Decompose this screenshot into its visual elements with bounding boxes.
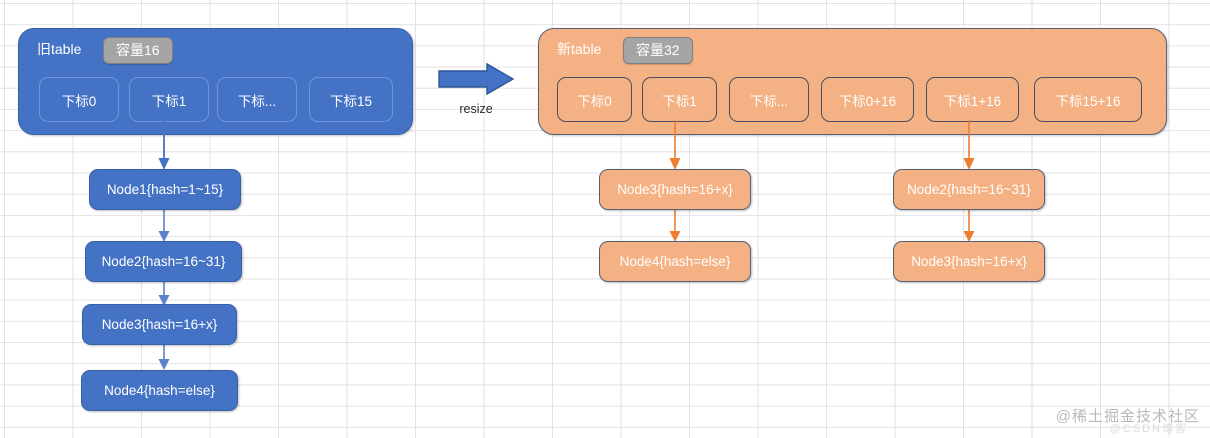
new-right-chain-node-2[interactable]: Node3{hash=16+x} (893, 241, 1045, 282)
connector-new-slot1-to-node3 (663, 120, 687, 172)
new-table-slot-row: 下标0 下标1 下标... 下标0+16 下标1+16 下标15+16 (539, 77, 1166, 125)
old-chain-node-4[interactable]: Node4{hash=else} (81, 370, 238, 411)
old-chain-node-1[interactable]: Node1{hash=1~15} (89, 169, 241, 210)
connector-node1-to-node2 (152, 208, 176, 244)
old-slot-15[interactable]: 下标15 (309, 77, 393, 122)
new-slot-15-plus-16[interactable]: 下标15+16 (1034, 77, 1142, 122)
old-slot-1[interactable]: 下标1 (129, 77, 209, 122)
diagram-canvas: 旧table 容量16 下标0 下标1 下标... 下标15 新table 容量… (0, 0, 1210, 438)
new-slot-1[interactable]: 下标1 (642, 77, 717, 122)
new-slot-0[interactable]: 下标0 (557, 77, 632, 122)
new-slot-1-plus-16[interactable]: 下标1+16 (926, 77, 1019, 122)
new-table-capacity-badge: 容量32 (623, 37, 693, 64)
new-right-chain-node-1[interactable]: Node2{hash=16~31} (893, 169, 1045, 210)
old-table-slot-row: 下标0 下标1 下标... 下标15 (19, 77, 412, 125)
old-table-container: 旧table 容量16 下标0 下标1 下标... 下标15 (18, 28, 413, 135)
old-chain-node-2[interactable]: Node2{hash=16~31} (85, 241, 242, 282)
connector-node3-to-node4 (152, 344, 176, 372)
watermark-sub: @CSDN博客 (1110, 420, 1188, 436)
new-slot-ellipsis[interactable]: 下标... (729, 77, 809, 122)
new-left-chain-node-2[interactable]: Node4{hash=else} (599, 241, 751, 282)
connector-new-slot1plus16-to-node2 (957, 120, 981, 172)
resize-arrow-icon (437, 62, 515, 96)
new-table-title: 新table (557, 39, 601, 59)
old-slot-ellipsis[interactable]: 下标... (217, 77, 297, 122)
old-slot-0[interactable]: 下标0 (39, 77, 119, 122)
connector-new-right-node2-to-node3 (957, 208, 981, 244)
old-chain-node-3[interactable]: Node3{hash=16+x} (82, 304, 237, 345)
new-table-container: 新table 容量32 下标0 下标1 下标... 下标0+16 下标1+16 … (538, 28, 1167, 135)
old-table-capacity-badge: 容量16 (103, 37, 173, 64)
old-table-title: 旧table (37, 39, 81, 59)
connector-old-slot1-to-node1 (152, 120, 176, 172)
connector-new-left-node3-to-node4 (663, 208, 687, 244)
resize-label: resize (437, 102, 515, 116)
new-slot-0-plus-16[interactable]: 下标0+16 (821, 77, 914, 122)
new-left-chain-node-1[interactable]: Node3{hash=16+x} (599, 169, 751, 210)
